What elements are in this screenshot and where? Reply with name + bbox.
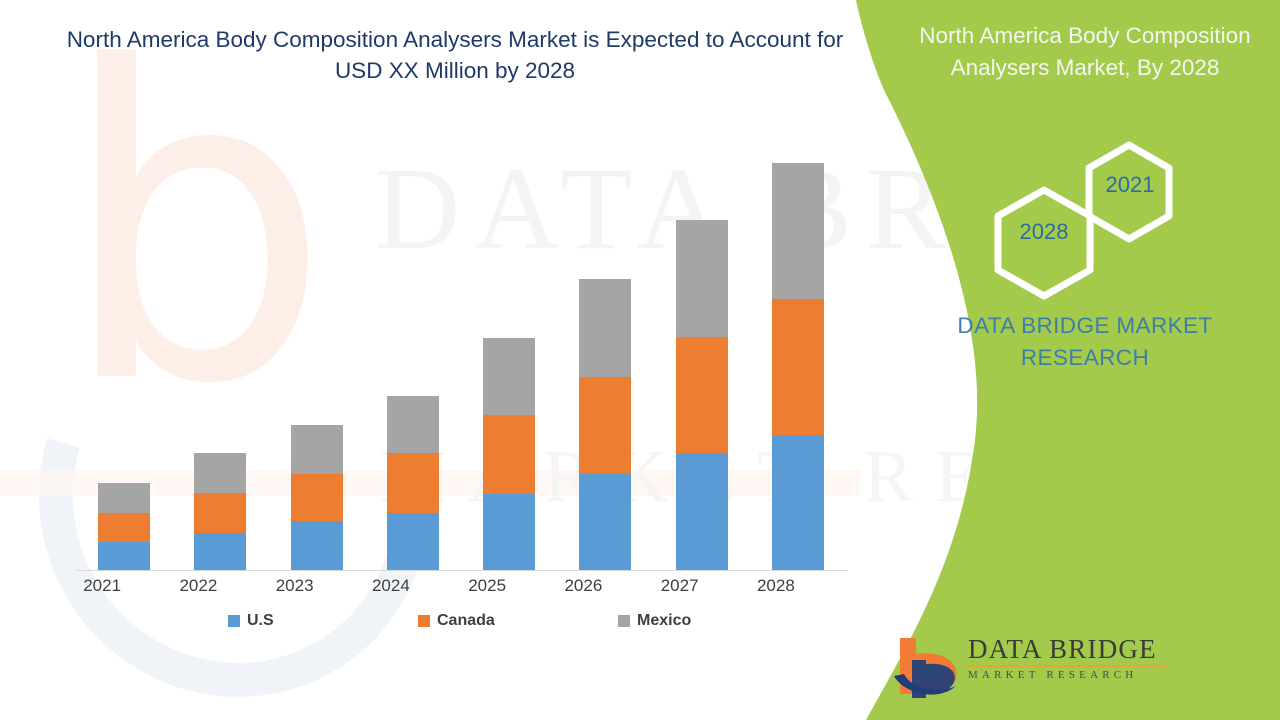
company-logo: DATA BRIDGE MARKET RESEARCH	[890, 632, 1130, 704]
bar-segment-canada	[98, 513, 150, 541]
bar-segment-us	[387, 513, 439, 570]
x-axis-label-2023: 2023	[255, 575, 335, 597]
bar-group	[291, 425, 343, 570]
x-axis-tick-labels: 20212022202320242025202620272028	[40, 575, 830, 605]
green-panel-content: North America Body Composition Analysers…	[880, 0, 1280, 720]
bar-segment-canada	[772, 299, 824, 435]
bar-segment-us	[772, 435, 824, 570]
brand-heading-line2: RESEARCH	[890, 342, 1280, 374]
infographic-canvas: b DATA BRIDGE MARKET RESEARCH North Amer…	[0, 0, 1280, 720]
x-axis-line	[76, 570, 848, 571]
bar-group	[98, 483, 150, 570]
bar-group	[194, 453, 246, 570]
bar-group	[579, 279, 631, 570]
x-axis-label-2028: 2028	[736, 575, 816, 597]
legend-item-mexico[interactable]: Mexico	[618, 612, 691, 630]
brand-heading-line1: DATA BRIDGE MARKET	[890, 310, 1280, 342]
bar-segment-mexico	[387, 396, 439, 453]
legend-label: Mexico	[637, 612, 691, 630]
legend-label: U.S	[247, 612, 274, 630]
bar-group	[387, 396, 439, 570]
bar-segment-mexico	[98, 483, 150, 514]
chart-legend: U.SCanadaMexico	[40, 612, 830, 638]
x-axis-label-2022: 2022	[158, 575, 238, 597]
bar-group	[676, 220, 728, 570]
bar-segment-mexico	[291, 425, 343, 474]
bar-segment-mexico	[676, 220, 728, 337]
logo-divider	[968, 665, 1166, 667]
x-axis-label-2025: 2025	[447, 575, 527, 597]
bar-segment-canada	[387, 453, 439, 513]
bar-segment-us	[676, 453, 728, 570]
bar-segment-us	[194, 533, 246, 570]
legend-swatch-icon	[228, 615, 240, 627]
panel-title: North America Body Composition Analysers…	[890, 20, 1280, 84]
legend-item-canada[interactable]: Canada	[418, 612, 495, 630]
legend-swatch-icon	[618, 615, 630, 627]
bar-group	[483, 338, 535, 570]
logo-mark-icon	[890, 632, 966, 700]
x-axis-label-2021: 2021	[62, 575, 142, 597]
legend-swatch-icon	[418, 615, 430, 627]
logo-name: DATA BRIDGE	[968, 634, 1166, 664]
bar-segment-canada	[194, 493, 246, 533]
bar-segment-canada	[483, 415, 535, 494]
bar-segment-canada	[579, 377, 631, 473]
chart-plot-area	[62, 150, 832, 570]
bar-segment-mexico	[772, 163, 824, 299]
bar-segment-canada	[676, 337, 728, 453]
bar-segment-us	[579, 474, 631, 570]
hexagon-2028-label: 2028	[1006, 219, 1082, 245]
bar-segment-mexico	[483, 338, 535, 414]
bar-segment-canada	[291, 474, 343, 522]
bar-group	[772, 163, 824, 570]
x-axis-label-2026: 2026	[543, 575, 623, 597]
bar-segment-us	[483, 494, 535, 570]
x-axis-label-2027: 2027	[640, 575, 720, 597]
logo-wordmark: DATA BRIDGE MARKET RESEARCH	[968, 634, 1166, 682]
legend-label: Canada	[437, 612, 495, 630]
bar-segment-us	[291, 521, 343, 570]
bar-segment-mexico	[194, 453, 246, 493]
bar-segment-mexico	[579, 279, 631, 377]
x-axis-label-2024: 2024	[351, 575, 431, 597]
bar-segment-us	[98, 542, 150, 570]
logo-tagline: MARKET RESEARCH	[968, 669, 1166, 682]
chart-container: 20212022202320242025202620272028 U.SCana…	[40, 150, 830, 620]
legend-item-us[interactable]: U.S	[228, 612, 274, 630]
page-title: North America Body Composition Analysers…	[60, 24, 850, 86]
brand-heading: DATA BRIDGE MARKET RESEARCH	[890, 310, 1280, 374]
hexagon-2021-label: 2021	[1095, 172, 1165, 198]
